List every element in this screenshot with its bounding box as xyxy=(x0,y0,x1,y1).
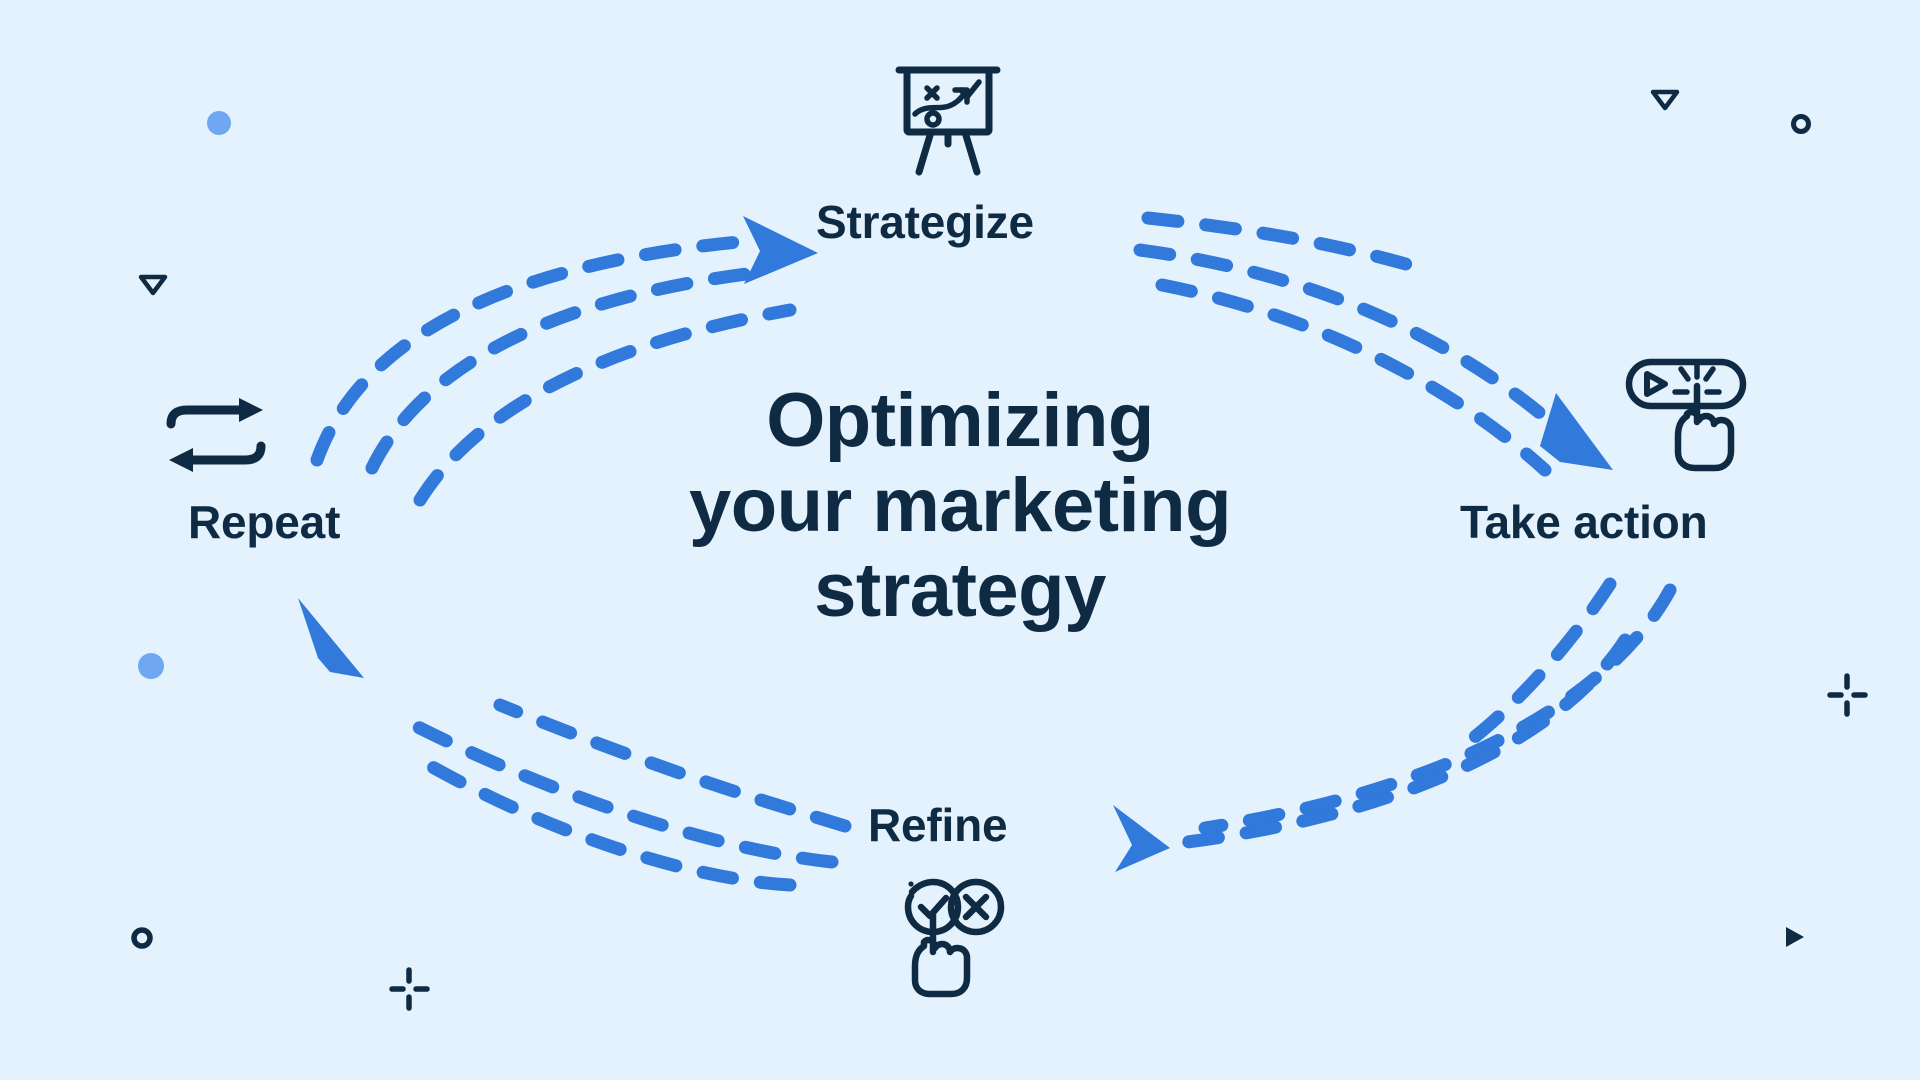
cycle-node-label-repeat[interactable]: Repeat xyxy=(188,495,340,549)
circle-bottom-left-decoration xyxy=(134,930,150,946)
arrowhead-refine xyxy=(1113,805,1170,872)
infographic-canvas: Optimizing your marketing strategy Strat… xyxy=(0,0,1920,1080)
triangle-top-right-decoration xyxy=(1653,92,1677,108)
crosshair-bottom-left-decoration xyxy=(392,970,427,1008)
page-title: Optimizing your marketing strategy xyxy=(560,378,1360,633)
arrow-refine-to-repeat xyxy=(400,705,845,885)
dot-top-left-decoration xyxy=(207,111,231,135)
crosshair-mid-right-decoration xyxy=(1830,676,1865,714)
arrowhead-repeat xyxy=(298,598,364,678)
cycle-node-label-refine[interactable]: Refine xyxy=(868,798,1007,852)
hand-choose-check-cross-icon xyxy=(908,881,1001,994)
circle-top-right-decoration xyxy=(1794,117,1809,132)
strategy-board-icon xyxy=(899,70,997,172)
cycle-node-label-take-action[interactable]: Take action xyxy=(1460,495,1707,549)
arrowhead-strategize xyxy=(743,216,818,284)
arrowhead-take-action xyxy=(1540,393,1613,470)
cycle-node-label-strategize[interactable]: Strategize xyxy=(816,195,1034,249)
hand-press-button-icon xyxy=(1629,362,1743,468)
dot-mid-left-decoration xyxy=(138,653,164,679)
triangle-top-left-decoration xyxy=(141,277,165,293)
loop-arrows-icon xyxy=(169,398,263,472)
triangle-bottom-right-decoration xyxy=(1786,927,1804,947)
